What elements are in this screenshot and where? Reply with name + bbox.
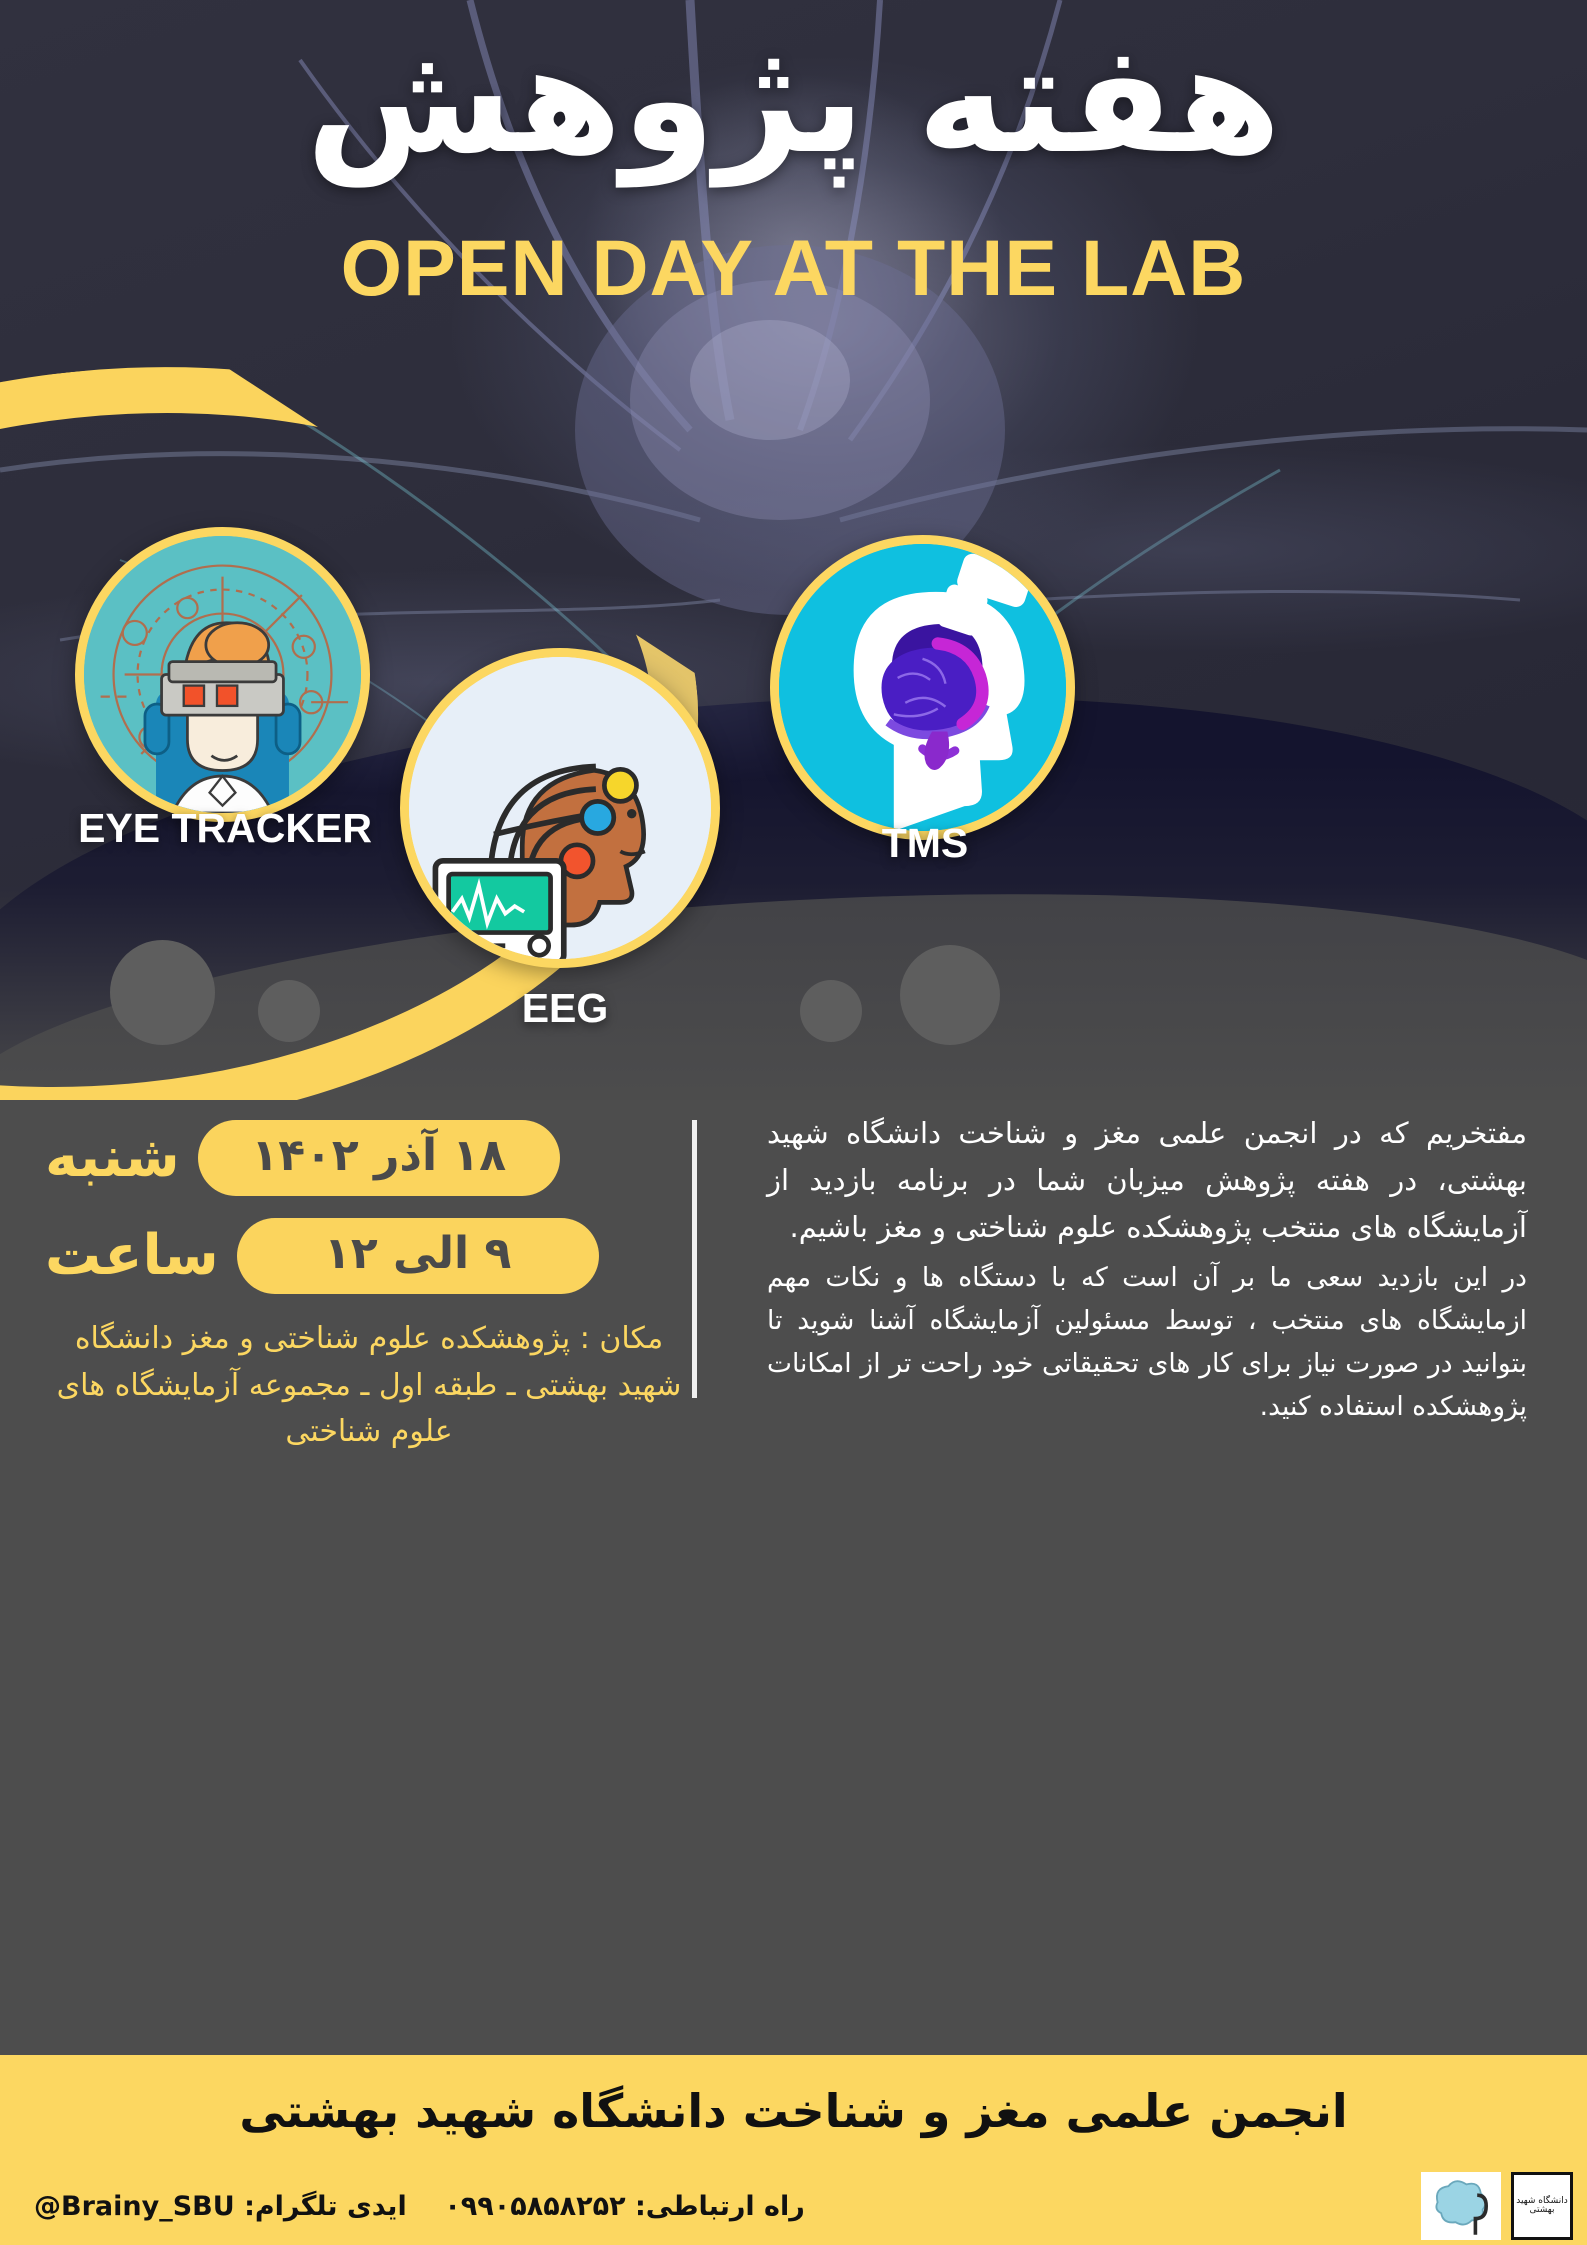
telegram-label: ایدی تلگرام:: [244, 2191, 407, 2222]
logo-group: دانشگاه شهید بهشتی: [1421, 2172, 1587, 2240]
contact-label: راه ارتباطی:: [635, 2191, 805, 2222]
brain-glyph-icon: [1425, 2175, 1497, 2237]
contact-phone: ۰۹۹۰۵۸۵۸۲۵۲: [444, 2191, 625, 2222]
page-title-fa: هفته پژوهش: [0, 22, 1587, 180]
sbu-logo-icon: دانشگاه شهید بهشتی: [1511, 2172, 1573, 2240]
telegram-handle[interactable]: @Brainy_SBU: [34, 2191, 235, 2222]
brainy-sbu-logo-icon: [1421, 2172, 1501, 2240]
page-title-en: OPEN DAY AT THE LAB: [0, 222, 1587, 314]
decorative-dot: [800, 980, 862, 1042]
organizer-name: انجمن علمی مغز و شناخت دانشگاه شهید بهشت…: [239, 2084, 1347, 2138]
info-section: مفتخریم که در انجمن علمی مغز و شناخت دان…: [0, 1080, 1587, 1960]
event-day-label: شنبه: [45, 1130, 180, 1186]
decorative-dot: [110, 940, 215, 1045]
event-time-pill: ۹ الی ۱۲: [237, 1218, 599, 1294]
event-date-pill: ۱۸ آذر ۱۴۰۲: [198, 1120, 560, 1196]
event-time-row: ۹ الی ۱۲ ساعت: [45, 1218, 685, 1294]
description-paragraph-2: در این بازدید سعی ما بر آن است که با دست…: [767, 1257, 1527, 1429]
modality-circle-eye-tracker[interactable]: [75, 527, 370, 822]
sbu-logo-text: دانشگاه شهید بهشتی: [1514, 2197, 1570, 2216]
vertical-divider: [692, 1120, 697, 1398]
poster-root: هفته پژوهش OPEN DAY AT THE LAB: [0, 0, 1587, 2245]
event-time-label: ساعت: [45, 1228, 219, 1284]
modality-circle-eeg[interactable]: [400, 648, 720, 968]
modality-label-tms: TMS: [790, 820, 1060, 867]
contact-bar: دانشگاه شهید بهشتی راه ارتباطی: ۰۹۹۰۵۸۵۸…: [0, 2167, 1587, 2245]
eye-tracker-icon: [84, 536, 361, 813]
description-block: مفتخریم که در انجمن علمی مغز و شناخت دان…: [767, 1110, 1527, 1429]
event-location: مکان : پژوهشکده علوم شناختی و مغز دانشگا…: [45, 1316, 685, 1456]
modality-label-eeg: EEG: [430, 985, 700, 1032]
eeg-icon: [409, 657, 711, 959]
decorative-dot: [900, 945, 1000, 1045]
decorative-dot: [258, 980, 320, 1042]
event-date-row: ۱۸ آذر ۱۴۰۲ شنبه: [45, 1120, 685, 1196]
contact-info: راه ارتباطی: ۰۹۹۰۵۸۵۸۲۵۲ ایدی تلگرام: @B…: [0, 2191, 805, 2222]
event-details: ۱۸ آذر ۱۴۰۲ شنبه ۹ الی ۱۲ ساعت مکان : پژ…: [45, 1120, 685, 1456]
organizer-band: انجمن علمی مغز و شناخت دانشگاه شهید بهشت…: [0, 2055, 1587, 2167]
tms-icon: [779, 544, 1066, 831]
description-paragraph-1: مفتخریم که در انجمن علمی مغز و شناخت دان…: [767, 1110, 1527, 1251]
modality-label-eye-tracker: EYE TRACKER: [40, 805, 410, 852]
modality-circle-tms[interactable]: [770, 535, 1075, 840]
